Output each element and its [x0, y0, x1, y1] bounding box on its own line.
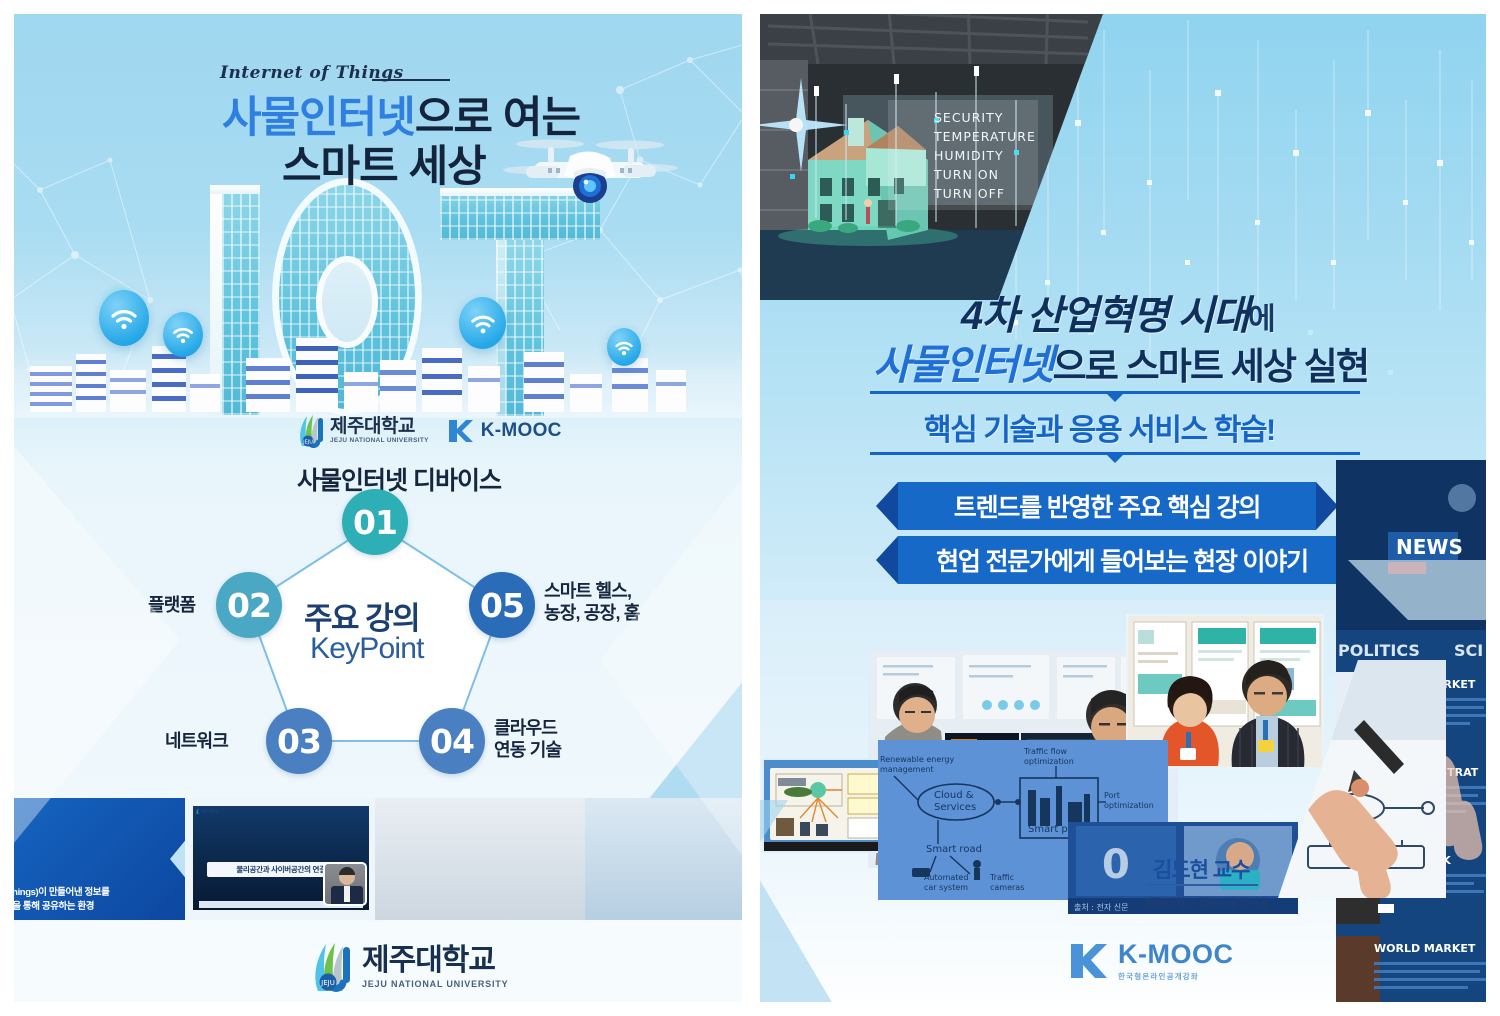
keypoint-node-02[interactable]: 02	[216, 572, 282, 638]
presenter-thumbnail	[323, 862, 367, 906]
feature-banner-1[interactable]: 트렌드를 반영한 주요 핵심 강의	[876, 482, 1338, 530]
keypoint-label-05: 스마트 헬스, 농장, 공장, 홈	[544, 581, 640, 625]
kmooc-logo-text: K-MOOC	[481, 420, 562, 442]
right-panel: SECURITY TEMPERATURE HUMIDITY TURN ON TU…	[748, 0, 1500, 1016]
professor-department: 제주대학교 컴퓨터공학전공	[1145, 895, 1269, 911]
keypoint-label-02: 플랫폼	[148, 595, 195, 617]
svg-text:JEJU: JEJU	[320, 979, 335, 987]
wifi-icon	[607, 328, 641, 366]
svg-text:TURN OFF: TURN OFF	[933, 186, 1005, 201]
footer-logo-kr: 제주대학교	[362, 946, 508, 976]
jnu-logo-en: JEJU NATIONAL UNIVERSITY	[330, 438, 429, 444]
kmooc-footer-logo: K-MOOC 한국형온라인공개강좌	[1068, 940, 1233, 982]
lecture-filmstrip: (Things)이 만들어낸 정보를 넷을 통해 공유하는 환경	[0, 798, 760, 920]
node-number: 02	[227, 586, 271, 625]
node-number: 05	[480, 586, 524, 625]
professor-name: 김도현 교수	[1153, 854, 1249, 884]
keypoint-node-03[interactable]: 03	[266, 708, 332, 774]
footer-logo-en: JEJU NATIONAL UNIVERSITY	[362, 980, 508, 989]
keypoint-node-01[interactable]: 01	[342, 489, 408, 555]
kmooc-k-icon	[1068, 940, 1108, 982]
jnu-logo-kr: 제주대학교	[330, 417, 429, 436]
jnu-watermark: 제주대학교	[195, 802, 221, 811]
kmooc-footer-subtitle: 한국형온라인공개강좌	[1118, 971, 1233, 982]
kmooc-logo: K-MOOC	[447, 417, 562, 445]
divider-triangle-bottom	[1106, 454, 1124, 463]
partner-logo-row: JEJU 제주대학교 JEJU NATIONAL UNIVERSITY K-MO…	[296, 414, 562, 448]
filmstrip-caption: (Things)이 만들어낸 정보를 넷을 통해 공유하는 환경	[4, 886, 109, 915]
keypoint-label-03: 네트워크	[165, 731, 228, 753]
wifi-icon	[163, 312, 203, 357]
professor-rule	[1146, 884, 1258, 886]
node-number: 03	[277, 722, 321, 761]
poster-root: Internet of Things 사물인터넷으로 여는 스마트 세상 JEJ…	[0, 0, 1500, 1016]
divider-triangle-top	[1106, 393, 1124, 402]
right-headline-line2: 사물인터넷으로 스마트 세상 실현	[873, 331, 1368, 391]
hero-script-rule	[372, 79, 450, 81]
jnu-emblem-icon: JEJU	[309, 941, 353, 993]
svg-text:제주대학교: 제주대학교	[201, 809, 219, 814]
jeju-university-footer-logo: JEJU 제주대학교 JEJU NATIONAL UNIVERSITY	[309, 941, 508, 993]
svg-text:HUMIDITY: HUMIDITY	[934, 148, 1004, 163]
right-headline-accent: 사물인터넷	[873, 342, 1053, 388]
kmooc-k-icon	[447, 417, 474, 445]
jeju-university-logo: JEJU 제주대학교 JEJU NATIONAL UNIVERSITY	[296, 414, 429, 448]
list-item	[585, 798, 760, 920]
keypoint-label-04: 클라우드 연동 기술	[494, 718, 561, 762]
list-item	[375, 798, 585, 920]
corner-wedge-decor	[600, 660, 760, 810]
node-number: 01	[353, 503, 397, 542]
list-item: 물리공간과 사이버공간의 연결 제주대학교	[185, 798, 375, 920]
hero-headline-line2: 스마트 세상	[282, 132, 486, 194]
right-subtitle: 핵심 기술과 응용 서비스 학습!	[924, 405, 1275, 449]
svg-text:NEWS: NEWS	[1396, 535, 1463, 559]
left-panel: Internet of Things 사물인터넷으로 여는 스마트 세상 JEJ…	[0, 0, 760, 1016]
wifi-icon	[459, 297, 506, 349]
node-number: 04	[430, 722, 474, 761]
svg-text:TEMPERATURE: TEMPERATURE	[933, 129, 1036, 144]
keypoint-node-05[interactable]: 05	[469, 572, 535, 638]
jnu-emblem-icon: JEJU	[296, 414, 324, 448]
right-headline-line2-rest: 으로 스마트 세상 실현	[1053, 346, 1369, 387]
svg-text:JEJU: JEJU	[302, 440, 313, 446]
keypoint-node-04[interactable]: 04	[419, 708, 485, 774]
wifi-icon	[99, 290, 149, 346]
keypoint-center-title-en: KeyPoint	[310, 632, 424, 666]
feature-banner-1-label: 트렌드를 반영한 주요 핵심 강의	[898, 482, 1316, 530]
svg-text:TURN ON: TURN ON	[933, 167, 999, 182]
kmooc-footer-title: K-MOOC	[1118, 941, 1233, 968]
svg-text:SECURITY: SECURITY	[934, 110, 1003, 125]
smart-home-warehouse-image: SECURITY TEMPERATURE HUMIDITY TURN ON TU…	[748, 0, 1108, 300]
keypoint-pentagon-diagram: 01 02 03 04 05 플랫폼 네트워크 클라우드 연동 기술 스마트 헬…	[150, 483, 670, 793]
